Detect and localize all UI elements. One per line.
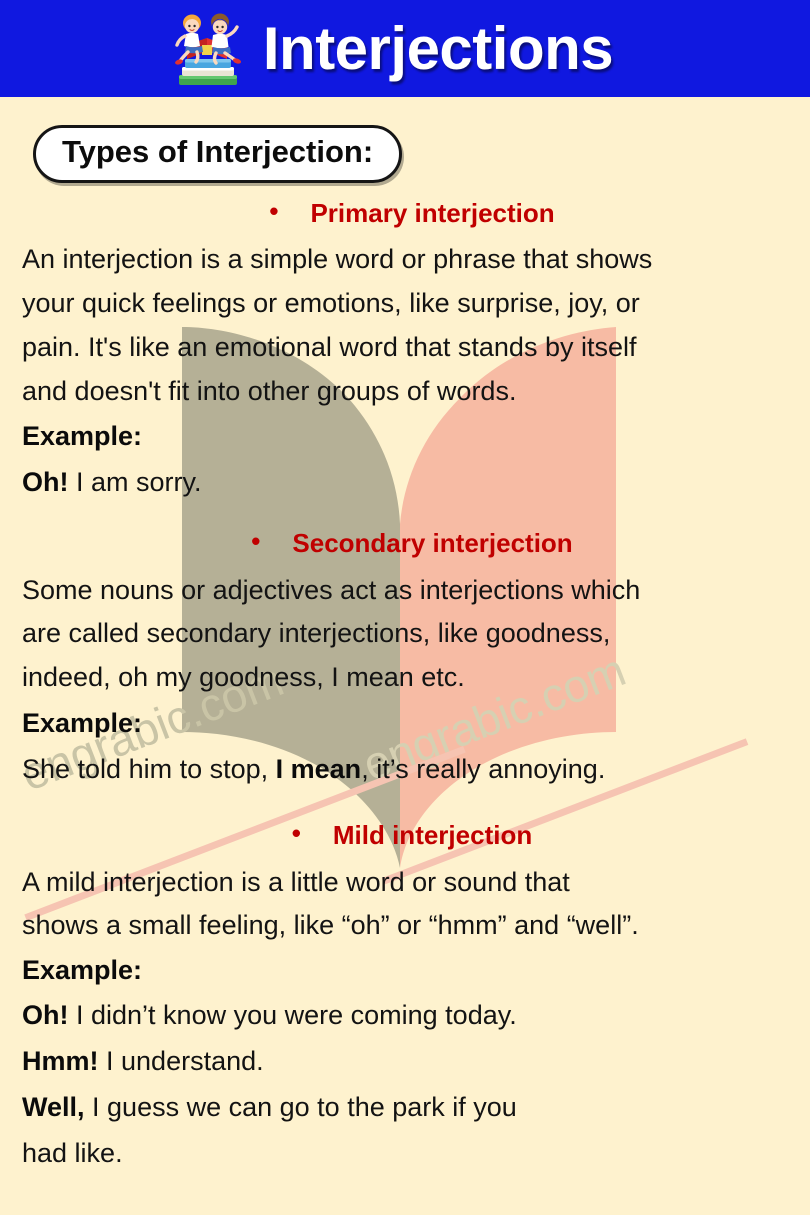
example-text: I am sorry. [69,467,202,497]
section-body-secondary: Some nouns or adjectives act as interjec… [0,569,810,700]
bullet-icon-secondary: • [251,528,260,554]
page-header: Interjections [0,0,810,97]
example-secondary-1: She told him to stop, I mean, it’s reall… [0,748,810,792]
section-title-primary: Primary interjection [310,198,554,228]
body-line: pain. It's like an emotional word that s… [22,326,796,370]
example-text: had like. [22,1138,123,1168]
section-heading-mild: •Mild interjection [0,820,810,851]
types-of-interjection-label: Types of Interjection: [62,134,373,169]
example-label-primary: Example: [0,415,810,459]
body-line: shows a small feeling, like “oh” or “hmm… [22,904,796,947]
section-heading-primary: •Primary interjection [0,198,810,229]
bullet-icon-primary: • [269,198,278,224]
example-keyword: Oh! [22,467,69,497]
infographic-page: engrabic.com engrabic.com [0,0,810,1215]
example-keyword: I mean [276,754,362,784]
section-heading-secondary: •Secondary interjection [0,528,810,559]
bullet-icon-mild: • [292,820,301,846]
section-title-secondary: Secondary interjection [292,528,572,558]
body-line: Some nouns or adjectives act as interjec… [22,569,796,613]
types-of-interjection-box: Types of Interjection: [33,125,402,183]
example-label-mild: Example: [0,949,810,993]
example-text: I understand. [99,1046,264,1076]
body-line: and doesn't fit into other groups of wor… [22,370,796,414]
example-mild-3: Well, I guess we can go to the park if y… [0,1086,810,1130]
body-line: An interjection is a simple word or phra… [22,238,796,282]
example-keyword: Well, [22,1092,85,1122]
kids-on-books-icon [161,5,253,93]
section-body-primary: An interjection is a simple word or phra… [0,238,810,413]
section-body-mild: A mild interjection is a little word or … [0,861,810,946]
example-text: , it’s really annoying. [361,754,605,784]
section-title-mild: Mild interjection [333,820,532,850]
example-keyword: Oh! [22,1000,69,1030]
body-line: your quick feelings or emotions, like su… [22,282,796,326]
example-mild-2: Hmm! I understand. [0,1040,810,1084]
example-primary-1: Oh! I am sorry. [0,461,810,505]
example-text-pre: She told him to stop, [22,754,276,784]
body-line: are called secondary interjections, like… [22,612,796,656]
page-title: Interjections [263,19,613,79]
main-content: Types of Interjection: •Primary interjec… [0,97,810,1175]
body-line: A mild interjection is a little word or … [22,861,796,904]
body-line: indeed, oh my goodness, I mean etc. [22,656,796,700]
example-keyword: Hmm! [22,1046,99,1076]
example-text: I guess we can go to the park if you [85,1092,517,1122]
example-mild-3-continued: had like. [0,1132,810,1176]
example-mild-1: Oh! I didn’t know you were coming today. [0,994,810,1038]
example-text: I didn’t know you were coming today. [69,1000,517,1030]
example-label-secondary: Example: [0,702,810,746]
